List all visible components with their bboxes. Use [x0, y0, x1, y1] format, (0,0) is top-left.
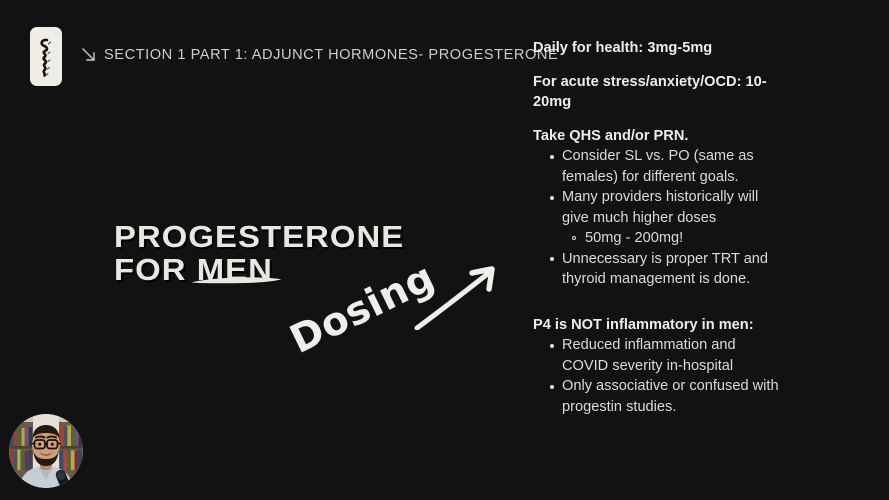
- presenter-webcam[interactable]: [9, 414, 83, 488]
- spacer: [533, 303, 783, 315]
- note-list: Consider SL vs. PO (same as females) for…: [533, 146, 783, 290]
- list-item: Unnecessary is proper TRT and thyroid ma…: [533, 249, 783, 290]
- presentation-slide: SECTION 1 PART 1: ADJUNCT HORMONES- PROG…: [0, 0, 889, 500]
- list-subitem: 50mg - 200mg!: [533, 228, 783, 249]
- note-sublist: 50mg - 200mg!: [533, 228, 783, 249]
- note-heading: P4 is NOT inflammatory in men:: [533, 315, 783, 336]
- note-group: P4 is NOT inflammatory in men: Reduced i…: [533, 315, 783, 418]
- note-heading: For acute stress/anxiety/OCD: 10-20mg: [533, 72, 783, 113]
- dosing-callout-arrow-icon: [414, 262, 506, 330]
- page-title-line-1: PROGESTERONE: [114, 220, 464, 253]
- note-heading: Take QHS and/or PRN.: [533, 126, 783, 147]
- note-heading: Daily for health: 3mg-5mg: [533, 38, 783, 59]
- note-list: Reduced inflammation and COVID severity …: [533, 335, 783, 417]
- list-item: Only associative or confused with proges…: [533, 376, 783, 417]
- note-group: Take QHS and/or PRN. Consider SL vs. PO …: [533, 126, 783, 290]
- arrow-down-right-icon: [80, 46, 98, 64]
- list-item: Consider SL vs. PO (same as females) for…: [533, 146, 783, 187]
- note-group: For acute stress/anxiety/OCD: 10-20mg: [533, 72, 783, 113]
- notes-column: Daily for health: 3mg-5mg For acute stre…: [533, 38, 783, 430]
- list-item: Reduced inflammation and COVID severity …: [533, 335, 783, 376]
- note-group: Daily for health: 3mg-5mg: [533, 38, 783, 59]
- rod-of-asclepius-logo: [30, 27, 62, 86]
- section-title: SECTION 1 PART 1: ADJUNCT HORMONES- PROG…: [104, 47, 558, 63]
- title-underline-stroke: [190, 276, 283, 285]
- list-item: Many providers historically will give mu…: [533, 187, 783, 228]
